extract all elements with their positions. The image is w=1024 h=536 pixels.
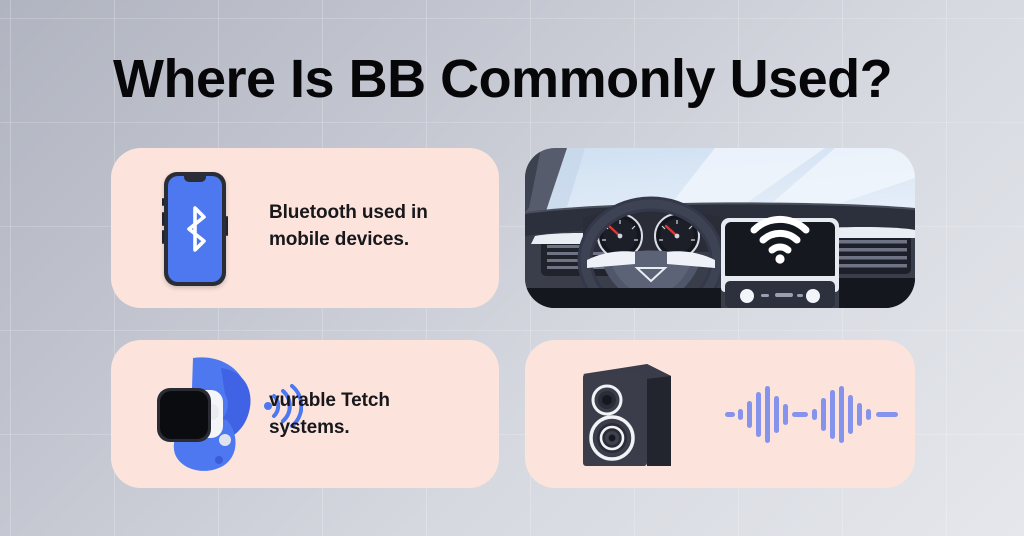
car-dashboard-wifi-icon: [525, 148, 915, 308]
phone-power-button: [226, 216, 228, 236]
bluetooth-rune-icon: [178, 204, 212, 254]
phone-notch: [184, 176, 206, 182]
card-audio-speaker[interactable]: [525, 340, 915, 488]
page-title: Where Is BB Commonly Used?: [113, 48, 892, 110]
card-mobile-devices[interactable]: Bluetooth used in mobile devices.: [111, 148, 499, 308]
phone-screen: [168, 176, 222, 282]
phone-volume-up-button: [162, 212, 164, 226]
card-wearable-label: vurable Tetch systems.: [269, 388, 469, 442]
card-wearable-tech[interactable]: vurable Tetch systems.: [111, 340, 499, 488]
speaker-icon: [575, 362, 680, 470]
card-car-dashboard[interactable]: [525, 148, 915, 308]
audio-waveform-icon: [725, 384, 905, 446]
card-mobile-label: Bluetooth used in mobile devices.: [269, 200, 479, 254]
phone-side-button: [162, 198, 164, 206]
smartphone-icon: [164, 172, 226, 286]
phone-volume-down-button: [162, 230, 164, 244]
smartwatch-icon: [147, 352, 267, 476]
